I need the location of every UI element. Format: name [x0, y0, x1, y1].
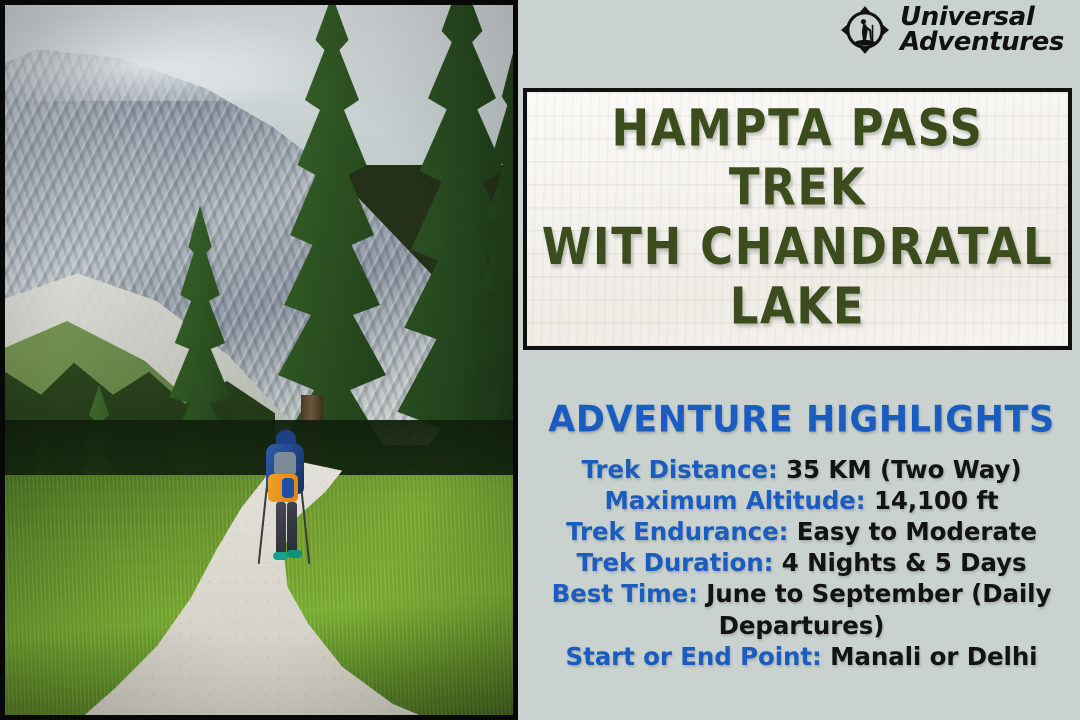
highlight-value: Easy to Moderate [797, 517, 1037, 546]
compass-hiker-icon [839, 4, 891, 56]
list-item: Start or End Point: Manali or Delhi [523, 641, 1080, 672]
hiker-backpack-blue [282, 478, 294, 498]
hiker-backpack-panel [274, 452, 296, 476]
trekking-pole-left [258, 482, 269, 564]
highlights-list: Trek Distance: 35 KM (Two Way) Maximum A… [523, 454, 1080, 672]
title-line-1: HAMPTA PASS TREK [541, 98, 1054, 217]
photo-hiker [252, 430, 318, 570]
photo-canvas [5, 5, 513, 715]
highlight-label: Trek Distance: [582, 455, 778, 484]
highlight-label: Trek Duration: [577, 548, 774, 577]
highlight-label: Start or End Point: [566, 642, 822, 671]
brand-name-line2: Adventures [900, 30, 1064, 55]
list-item: Best Time: June to September (Daily Depa… [523, 578, 1080, 640]
hiker-shoe-right [287, 550, 302, 558]
hiker-leg-left [276, 502, 286, 554]
highlight-label: Best Time: [552, 579, 698, 608]
highlight-value: Manali or Delhi [830, 642, 1037, 671]
highlight-label: Trek Endurance: [566, 517, 788, 546]
brand-logo[interactable]: Universal Adventures [839, 4, 1064, 56]
hiker-shoe-left [273, 552, 288, 560]
title-sign-board: HAMPTA PASS TREK WITH CHANDRATAL LAKE [523, 88, 1072, 350]
highlight-value: 14,100 ft [874, 486, 999, 515]
hero-photo [0, 0, 518, 720]
highlight-value: 35 KM (Two Way) [786, 455, 1021, 484]
list-item: Trek Duration: 4 Nights & 5 Days [523, 547, 1080, 578]
list-item: Trek Distance: 35 KM (Two Way) [523, 454, 1080, 485]
highlight-value: 4 Nights & 5 Days [782, 548, 1027, 577]
highlights-heading: ADVENTURE HIGHLIGHTS [523, 399, 1080, 441]
highlight-value: June to September (Daily Departures) [706, 579, 1051, 639]
brand-name: Universal Adventures [900, 5, 1064, 55]
title-line-2: WITH CHANDRATAL [541, 217, 1054, 276]
poster-root: Universal Adventures HAMPTA PASS TREK WI… [0, 0, 1080, 720]
list-item: Maximum Altitude: 14,100 ft [523, 485, 1080, 516]
adventure-highlights-section: ADVENTURE HIGHLIGHTS Trek Distance: 35 K… [523, 400, 1080, 672]
title-line-3: LAKE [541, 276, 1054, 335]
photo-haze [5, 11, 325, 101]
hiker-leg-right [287, 502, 297, 554]
list-item: Trek Endurance: Easy to Moderate [523, 516, 1080, 547]
page-title: HAMPTA PASS TREK WITH CHANDRATAL LAKE [541, 98, 1054, 336]
highlight-label: Maximum Altitude: [604, 486, 865, 515]
